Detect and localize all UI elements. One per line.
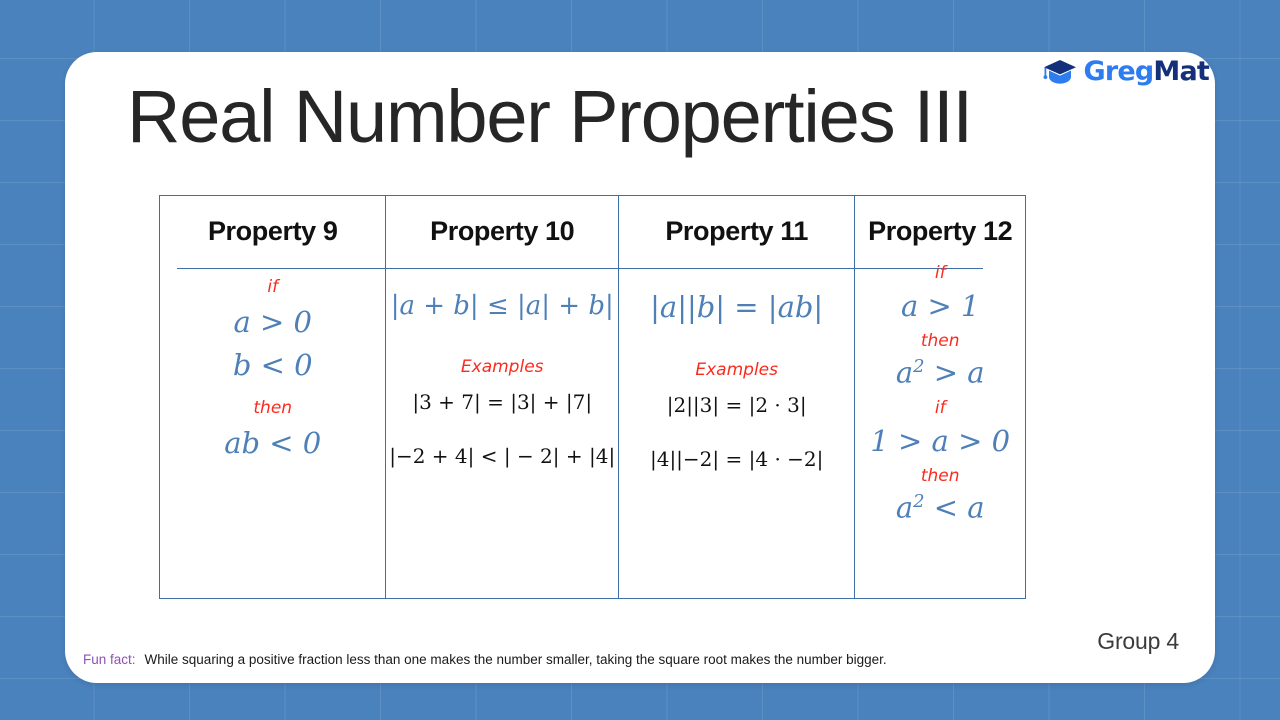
column-body: if a > 0 b < 0 then ab < 0: [160, 247, 385, 458]
example-2: |−2 + 4| < | − 2| + |4|: [386, 446, 617, 466]
column-header: Property 12: [868, 216, 1012, 247]
page-title: Real Number Properties III: [127, 74, 972, 159]
then-label: then: [160, 400, 385, 417]
condition-2: 1 > a > 0: [855, 427, 1025, 456]
example-1: |3 + 7| = |3| + |7|: [386, 392, 617, 412]
table-column-property-11: Property 11 |a||b| = |ab| Examples |2||3…: [618, 196, 854, 598]
examples-label: Examples: [386, 359, 617, 376]
logo-word-greg: Greg: [1083, 56, 1153, 87]
gregmat-logo: GregMat: [1043, 58, 1209, 85]
graduation-cap-icon: [1043, 59, 1077, 85]
if-label-2: if: [855, 400, 1025, 417]
column-body: if a > 1 then a2 > a if 1 > a > 0 then a…: [855, 247, 1025, 522]
table-column-property-12: Property 12 if a > 1 then a2 > a if 1 > …: [854, 196, 1025, 598]
fun-fact-label: Fun fact:: [83, 652, 136, 667]
then-label-1: then: [855, 333, 1025, 350]
example-2: |4||−2| = |4 · −2|: [619, 449, 854, 469]
column-header: Property 9: [208, 216, 338, 247]
then-label-2: then: [855, 468, 1025, 485]
column-body: |a + b| ≤ |a| + b| Examples |3 + 7| = |3…: [386, 247, 617, 466]
logo-word-mat: Mat: [1153, 56, 1209, 87]
logo-wordmark: GregMat: [1083, 58, 1209, 85]
condition-2: b < 0: [160, 351, 385, 380]
result: ab < 0: [160, 429, 385, 458]
if-label: if: [160, 279, 385, 296]
properties-table: Property 9 if a > 0 b < 0 then ab < 0 Pr…: [159, 195, 1026, 599]
formula: |a||b| = |ab|: [619, 293, 854, 322]
result-2-tail: < a: [934, 490, 985, 524]
table-column-property-10: Property 10 |a + b| ≤ |a| + b| Examples …: [385, 196, 617, 598]
result-1-base: a: [896, 356, 913, 390]
group-tag: Group 4: [1097, 628, 1179, 655]
examples-label: Examples: [619, 362, 854, 379]
result-2-base: a: [896, 490, 913, 524]
result-1-tail: > a: [934, 356, 985, 390]
column-header: Property 11: [665, 216, 808, 247]
result-1: a2 > a: [855, 358, 1025, 388]
condition-1: a > 1: [855, 292, 1025, 321]
formula: |a + b| ≤ |a| + b|: [386, 293, 617, 319]
fun-fact: Fun fact:While squaring a positive fract…: [83, 652, 887, 667]
column-body: |a||b| = |ab| Examples |2||3| = |2 · 3| …: [619, 247, 854, 469]
result-2-exponent: 2: [913, 491, 924, 512]
table-column-property-9: Property 9 if a > 0 b < 0 then ab < 0: [160, 196, 385, 598]
slide-card: GregMat Real Number Properties III Prope…: [65, 52, 1215, 683]
if-label-1: if: [855, 265, 1025, 282]
result-1-exponent: 2: [913, 356, 924, 377]
example-1: |2||3| = |2 · 3|: [619, 395, 854, 415]
fun-fact-text: While squaring a positive fraction less …: [145, 652, 887, 667]
result-2: a2 < a: [855, 493, 1025, 523]
column-header: Property 10: [430, 216, 574, 247]
slide-canvas: GregMat Real Number Properties III Prope…: [0, 0, 1280, 720]
condition-1: a > 0: [160, 308, 385, 337]
